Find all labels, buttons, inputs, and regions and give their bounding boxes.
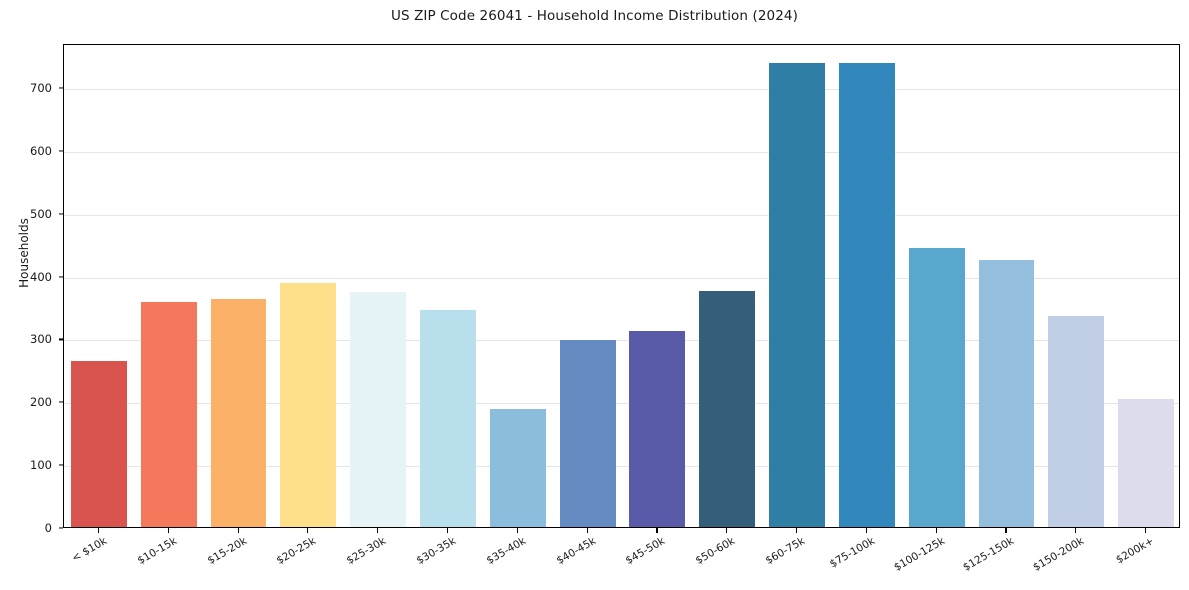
bar[interactable] [280,283,336,528]
x-tick-mark [307,528,308,533]
x-tick-mark [936,528,937,533]
x-tick-mark [1075,528,1076,533]
y-tick-label: 200 [30,395,52,409]
plot-area [63,44,1180,528]
x-tick-mark [168,528,169,533]
y-tick-label: 100 [30,458,52,472]
x-tick-mark [98,528,99,533]
bars-layer [64,45,1179,527]
y-tick-label: 700 [30,81,52,95]
x-tick-mark [1145,528,1146,533]
bar[interactable] [420,310,476,527]
y-tick-label: 300 [30,332,52,346]
x-tick-mark [1005,528,1006,533]
bar[interactable] [1048,316,1104,527]
x-tick-mark [517,528,518,533]
x-tick-mark [726,528,727,533]
bar[interactable] [141,302,197,527]
bar[interactable] [490,409,546,527]
x-tick-mark [796,528,797,533]
x-tick-mark [656,528,657,533]
y-tick-label: 600 [30,144,52,158]
bar[interactable] [909,248,965,527]
bar[interactable] [71,361,127,527]
x-tick-mark [238,528,239,533]
bar[interactable] [979,260,1035,527]
chart-figure: US ZIP Code 26041 - Household Income Dis… [0,0,1189,590]
x-axis: < $10k$10-15k$15-20k$20-25k$25-30k$30-35… [63,528,1180,590]
x-tick-mark [587,528,588,533]
chart-title: US ZIP Code 26041 - Household Income Dis… [0,8,1189,24]
x-tick-mark [447,528,448,533]
bar[interactable] [211,299,267,527]
y-tick-label: 400 [30,270,52,284]
x-tick-mark [866,528,867,533]
bar[interactable] [699,291,755,527]
bar[interactable] [629,331,685,527]
y-axis-label: Households [17,53,31,453]
bar[interactable] [769,63,825,527]
bar[interactable] [350,292,406,527]
x-tick-mark [377,528,378,533]
bar[interactable] [1118,399,1174,527]
bar[interactable] [839,63,895,528]
y-tick-label: 0 [45,521,52,535]
bar[interactable] [560,340,616,527]
y-axis: Households 0100200300400500600700 [0,44,63,528]
y-tick-label: 500 [30,207,52,221]
